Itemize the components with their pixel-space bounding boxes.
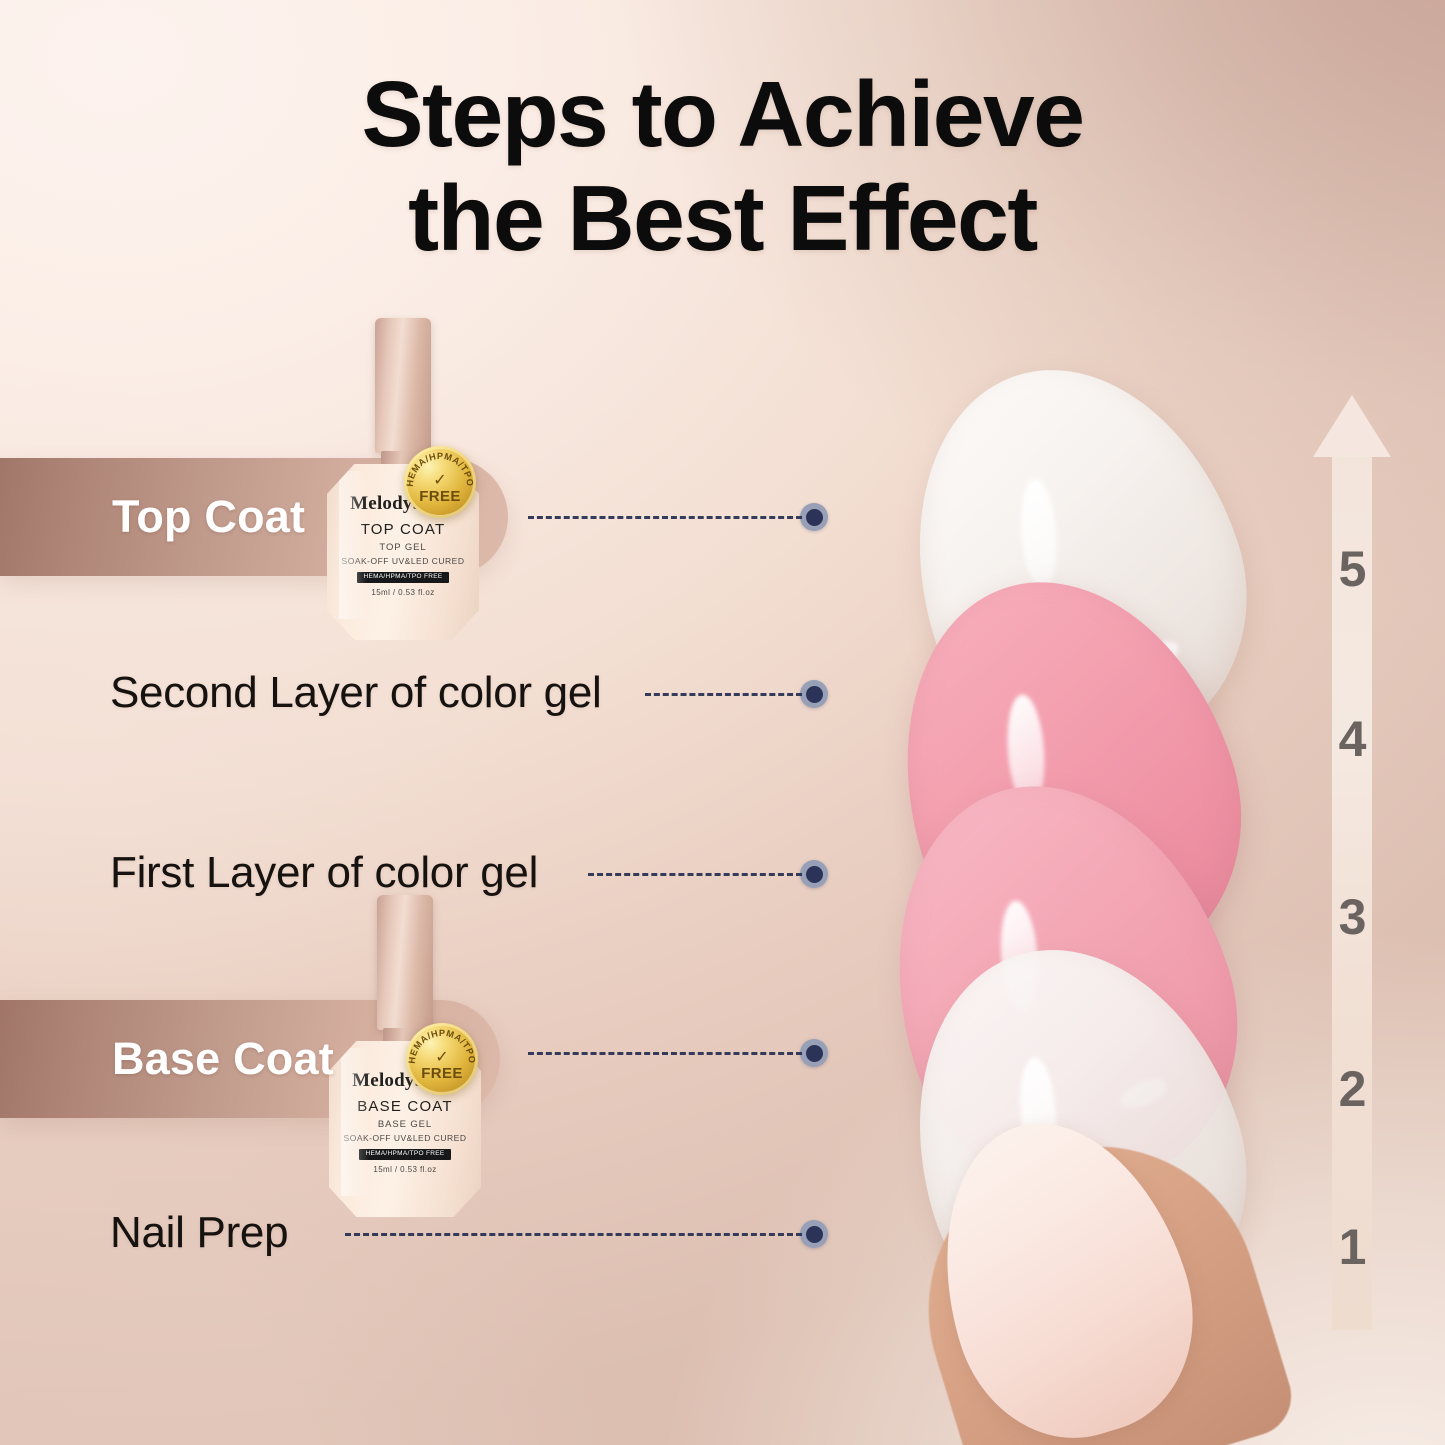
- base-coat-label: Base Coat: [112, 1033, 334, 1085]
- title-line-2: the Best Effect: [0, 166, 1445, 270]
- bottle-volume: 15ml / 0.53 fl.oz: [327, 589, 479, 597]
- connector-dot: [800, 1039, 828, 1067]
- page-title: Steps to Achieve the Best Effect: [0, 62, 1445, 270]
- bottle-subtitle: TOP GEL: [327, 543, 479, 553]
- connector-base-coat: [528, 1040, 828, 1066]
- connector-nail-prep: [345, 1221, 828, 1247]
- top-coat-label: Top Coat: [112, 491, 305, 543]
- hema-free-seal-icon: HEMA/HPMA/TPO ✓ FREE: [406, 1023, 478, 1095]
- bottle-product-name: BASE COAT: [329, 1099, 481, 1114]
- arrow-head-icon: [1313, 395, 1391, 457]
- connector-second-layer: [645, 681, 828, 707]
- step-number-5: 5: [1313, 540, 1391, 598]
- dashed-line: [645, 693, 802, 696]
- dashed-line: [528, 1052, 802, 1055]
- connector-dot: [800, 680, 828, 708]
- bottle-free-tag: HEMA/HPMA/TPO FREE: [359, 1149, 450, 1161]
- seal-free-text: FREE: [404, 489, 476, 504]
- bottle-volume: 15ml / 0.53 fl.oz: [329, 1166, 481, 1174]
- bottle-cure-text: SOAK-OFF UV&LED CURED: [327, 557, 479, 566]
- bottle-subtitle: BASE GEL: [329, 1120, 481, 1130]
- connector-first-layer: [588, 861, 828, 887]
- bottle-free-tag: HEMA/HPMA/TPO FREE: [357, 572, 448, 584]
- step-label-second-layer: Second Layer of color gel: [110, 668, 601, 718]
- connector-dot-core: [806, 1045, 823, 1062]
- seal-check-icon: ✓: [406, 1050, 478, 1066]
- dashed-line: [528, 516, 802, 519]
- connector-dot-core: [806, 866, 823, 883]
- connector-top-coat: [528, 504, 828, 530]
- step-number-4: 4: [1313, 710, 1391, 768]
- infographic-canvas: Steps to Achieve the Best Effect Top Coa…: [0, 0, 1445, 1445]
- connector-dot-core: [806, 509, 823, 526]
- dashed-line: [345, 1233, 802, 1236]
- seal-check-icon: ✓: [404, 473, 476, 489]
- bottle-cap-icon: [377, 895, 433, 1030]
- bottle-cap-icon: [375, 318, 431, 453]
- title-line-1: Steps to Achieve: [362, 62, 1084, 166]
- bottle-cure-text: SOAK-OFF UV&LED CURED: [329, 1134, 481, 1143]
- step-number-2: 2: [1313, 1060, 1391, 1118]
- connector-dot-core: [806, 1226, 823, 1243]
- top-coat-bottle: MelodySusie TOP COAT TOP GEL SOAK-OFF UV…: [318, 318, 488, 648]
- connector-dot-core: [806, 686, 823, 703]
- base-coat-bottle: MelodySusie BASE COAT BASE GEL SOAK-OFF …: [320, 895, 490, 1225]
- bottle-product-name: TOP COAT: [327, 522, 479, 537]
- connector-dot: [800, 860, 828, 888]
- hema-free-seal-icon: HEMA/HPMA/TPO ✓ FREE: [404, 446, 476, 518]
- dashed-line: [588, 873, 802, 876]
- step-label-nail-prep: Nail Prep: [110, 1208, 288, 1258]
- step-order-arrow-icon: [1313, 395, 1391, 1330]
- step-number-1: 1: [1313, 1218, 1391, 1276]
- step-number-3: 3: [1313, 888, 1391, 946]
- step-label-first-layer: First Layer of color gel: [110, 848, 538, 898]
- seal-free-text: FREE: [406, 1066, 478, 1081]
- connector-dot: [800, 1220, 828, 1248]
- connector-dot: [800, 503, 828, 531]
